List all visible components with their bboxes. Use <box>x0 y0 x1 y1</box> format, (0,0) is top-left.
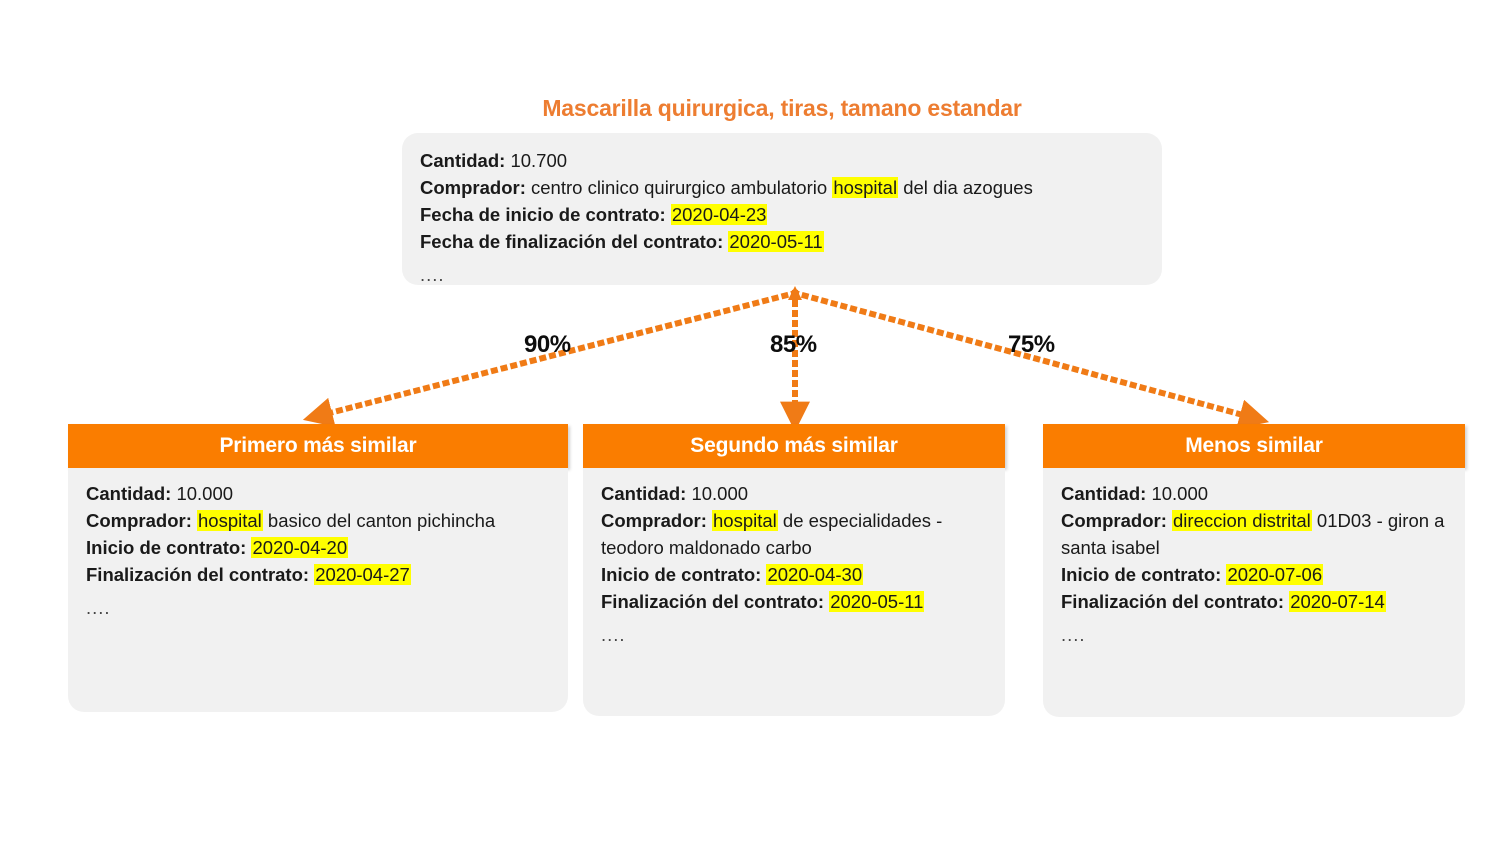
similarity-percent-85: 85% <box>770 331 817 359</box>
result1-field-finalizacion: Finalización del contrato: 2020-04-27 <box>86 561 552 588</box>
query-field-inicio-highlight: 2020-04-23 <box>671 204 768 225</box>
query-field-cantidad: Cantidad: 10.700 <box>420 147 1144 174</box>
query-field-cantidad-label: Cantidad: <box>420 150 505 171</box>
similarity-percent-75: 75% <box>1008 331 1055 359</box>
result3-field-cantidad: Cantidad: 10.000 <box>1061 480 1449 507</box>
result1-field-inicio-highlight: 2020-04-20 <box>251 537 348 558</box>
result1-field-comprador: Comprador: hospital basico del canton pi… <box>86 507 552 534</box>
result1-field-cantidad: Cantidad: 10.000 <box>86 480 552 507</box>
result3-field-inicio-highlight: 2020-07-06 <box>1226 564 1323 585</box>
query-record-card: Cantidad: 10.700 Comprador: centro clini… <box>402 133 1162 285</box>
result-card-second: Segundo más similar Cantidad: 10.000 Com… <box>583 424 1005 716</box>
query-field-inicio: Fecha de inicio de contrato: 2020-04-23 <box>420 201 1144 228</box>
result2-field-comprador-label: Comprador: <box>601 510 707 531</box>
result1-field-inicio-label: Inicio de contrato: <box>86 537 246 558</box>
result1-field-cantidad-label: Cantidad: <box>86 483 171 504</box>
result1-field-finalizacion-label: Finalización del contrato: <box>86 564 309 585</box>
result2-field-inicio: Inicio de contrato: 2020-04-30 <box>601 561 989 588</box>
result-card-second-body: Cantidad: 10.000 Comprador: hospital de … <box>583 468 1005 716</box>
result2-field-comprador-highlight: hospital <box>712 510 778 531</box>
result3-field-comprador: Comprador: direccion distrital 01D03 - g… <box>1061 507 1449 561</box>
query-field-comprador-pre: centro clinico quirurgico ambulatorio <box>526 177 832 198</box>
query-field-inicio-label: Fecha de inicio de contrato: <box>420 204 666 225</box>
result1-field-finalizacion-highlight: 2020-04-27 <box>314 564 411 585</box>
similarity-arrows <box>0 0 1500 844</box>
query-field-comprador-highlight: hospital <box>832 177 898 198</box>
result3-field-inicio: Inicio de contrato: 2020-07-06 <box>1061 561 1449 588</box>
result-card-second-header: Segundo más similar <box>583 424 1005 468</box>
result3-field-finalizacion: Finalización del contrato: 2020-07-14 <box>1061 588 1449 615</box>
result2-field-finalizacion: Finalización del contrato: 2020-05-11 <box>601 588 989 615</box>
result2-field-finalizacion-highlight: 2020-05-11 <box>829 591 924 612</box>
result3-ellipsis: .... <box>1061 621 1449 648</box>
query-title: Mascarilla quirurgica, tiras, tamano est… <box>402 95 1162 122</box>
result-card-first-body: Cantidad: 10.000 Comprador: hospital bas… <box>68 468 568 712</box>
diagram-canvas: Mascarilla quirurgica, tiras, tamano est… <box>0 0 1500 844</box>
result1-field-comprador-label: Comprador: <box>86 510 192 531</box>
result-card-least-body: Cantidad: 10.000 Comprador: direccion di… <box>1043 468 1465 717</box>
result1-field-comprador-post: basico del canton pichincha <box>263 510 495 531</box>
arrow-apex-head-icon <box>788 286 802 300</box>
result-card-least-header: Menos similar <box>1043 424 1465 468</box>
query-field-finalizacion: Fecha de finalización del contrato: 2020… <box>420 228 1144 255</box>
result3-field-inicio-label: Inicio de contrato: <box>1061 564 1221 585</box>
result1-field-inicio: Inicio de contrato: 2020-04-20 <box>86 534 552 561</box>
result-card-first: Primero más similar Cantidad: 10.000 Com… <box>68 424 568 712</box>
result2-field-comprador: Comprador: hospital de especialidades - … <box>601 507 989 561</box>
query-field-comprador-post: del dia azogues <box>898 177 1033 198</box>
result3-field-comprador-label: Comprador: <box>1061 510 1167 531</box>
result3-field-finalizacion-label: Finalización del contrato: <box>1061 591 1284 612</box>
result2-field-cantidad-value: 10.000 <box>686 483 748 504</box>
result3-field-comprador-highlight: direccion distrital <box>1172 510 1312 531</box>
result1-field-cantidad-value: 10.000 <box>171 483 233 504</box>
result-card-first-header: Primero más similar <box>68 424 568 468</box>
result3-field-finalizacion-highlight: 2020-07-14 <box>1289 591 1386 612</box>
query-field-comprador: Comprador: centro clinico quirurgico amb… <box>420 174 1144 201</box>
query-field-comprador-label: Comprador: <box>420 177 526 198</box>
query-field-finalizacion-highlight: 2020-05-11 <box>728 231 823 252</box>
result2-field-cantidad-label: Cantidad: <box>601 483 686 504</box>
result-card-least: Menos similar Cantidad: 10.000 Comprador… <box>1043 424 1465 717</box>
result2-field-finalizacion-label: Finalización del contrato: <box>601 591 824 612</box>
similarity-percent-90: 90% <box>524 331 571 359</box>
query-field-finalizacion-label: Fecha de finalización del contrato: <box>420 231 723 252</box>
result3-field-cantidad-label: Cantidad: <box>1061 483 1146 504</box>
result2-field-inicio-label: Inicio de contrato: <box>601 564 761 585</box>
result3-field-cantidad-value: 10.000 <box>1146 483 1208 504</box>
result1-ellipsis: .... <box>86 594 552 621</box>
result2-ellipsis: .... <box>601 621 989 648</box>
query-field-cantidad-value: 10.700 <box>505 150 567 171</box>
query-ellipsis: .... <box>420 261 1144 288</box>
result2-field-inicio-highlight: 2020-04-30 <box>766 564 863 585</box>
result1-field-comprador-highlight: hospital <box>197 510 263 531</box>
result2-field-cantidad: Cantidad: 10.000 <box>601 480 989 507</box>
